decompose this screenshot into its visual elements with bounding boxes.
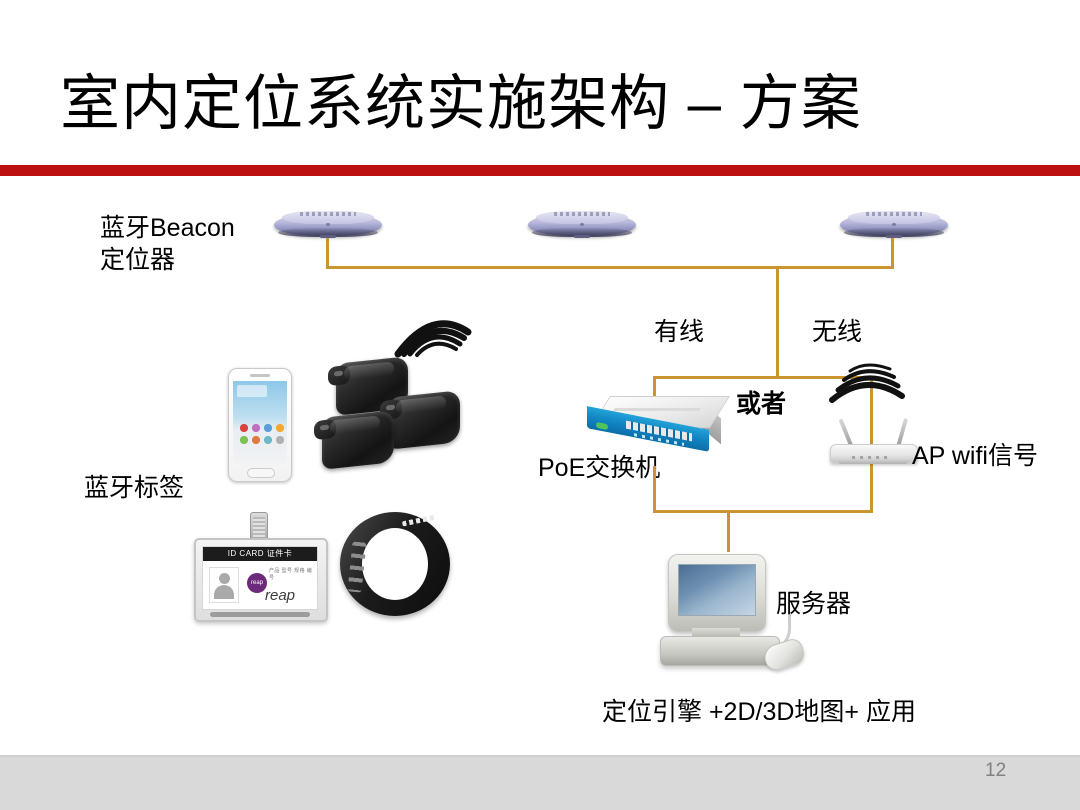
bluetooth-beacon-1 [274,210,382,240]
wifi-router [826,418,922,470]
signal-waves-icon [392,292,472,364]
beacon-led [326,223,330,226]
phone-speaker [250,374,270,377]
badge-photo [209,567,239,603]
beacon-vents [554,212,610,216]
label-or: 或者 [736,388,786,420]
connector-bus-to-split [776,266,779,378]
smartphone [228,368,292,482]
beacon-notch [886,235,902,238]
wifi-waves-icon [822,352,910,404]
bluetooth-tag-3 [314,412,394,468]
beacon-notch [574,235,590,238]
label-wireless: 无线 [812,316,862,348]
server-base-unit [660,636,780,666]
badge-holder: ID CARD 证件卡 产品 型号 规格 编号 reap reap [194,538,328,622]
title-divider-rule [0,165,1080,176]
badge-logo-dot: reap [247,573,267,593]
fitness-wristband [340,512,450,616]
router-status-leds [852,456,888,459]
page-number: 12 [985,760,1006,782]
label-poe-switch: PoE交换机 [538,452,660,484]
badge-card-title: ID CARD 证件卡 [203,547,317,561]
server-monitor [668,554,766,632]
badge-brand: reap [265,587,295,604]
label-wired: 有线 [654,316,704,348]
bluetooth-beacon-2 [528,210,636,240]
label-server: 服务器 [776,588,851,620]
badge-lip [210,612,310,617]
beacon-led [892,223,896,226]
label-bluetooth-beacon: 蓝牙Beacon 定位器 [100,212,235,276]
connector-beacon1-down [326,238,329,268]
connector-split-horizontal [653,376,779,379]
footer-bar [0,755,1080,810]
connector-beacon-bus [326,266,894,269]
beacon-vents [866,212,922,216]
connector-switch-down [653,466,656,512]
phone-clock-widget [237,385,267,397]
wristband-opening [362,528,428,600]
poe-switch [584,396,724,454]
beacon-vents [300,212,356,216]
slide-canvas: 室内定位系统实施架构 – 方案 蓝牙Beacon 定位器 有线 无线 或者 [0,0,1080,810]
switch-top-seam [613,408,701,411]
connector-server-bus [653,510,873,513]
phone-app-icons [236,423,284,447]
bluetooth-beacon-3 [840,210,948,240]
caption-location-engine: 定位引擎 +2D/3D地图+ 应用 [602,696,916,728]
id-card-badge: ID CARD 证件卡 产品 型号 规格 编号 reap reap [194,512,324,624]
badge-micro-text: 产品 型号 规格 编号 [269,567,317,581]
beacon-led [580,223,584,226]
phone-screen [233,381,287,463]
page-title: 室内定位系统实施架构 – 方案 [60,72,862,135]
server-screen [678,564,756,616]
connector-router-down [870,466,873,512]
phone-home-button [247,468,275,478]
label-bluetooth-tags: 蓝牙标签 [84,472,184,504]
connector-beacon3-down [891,238,894,268]
label-ap-wifi: AP wifi信号 [912,440,1038,472]
badge-card: ID CARD 证件卡 产品 型号 规格 编号 reap reap [202,546,318,610]
